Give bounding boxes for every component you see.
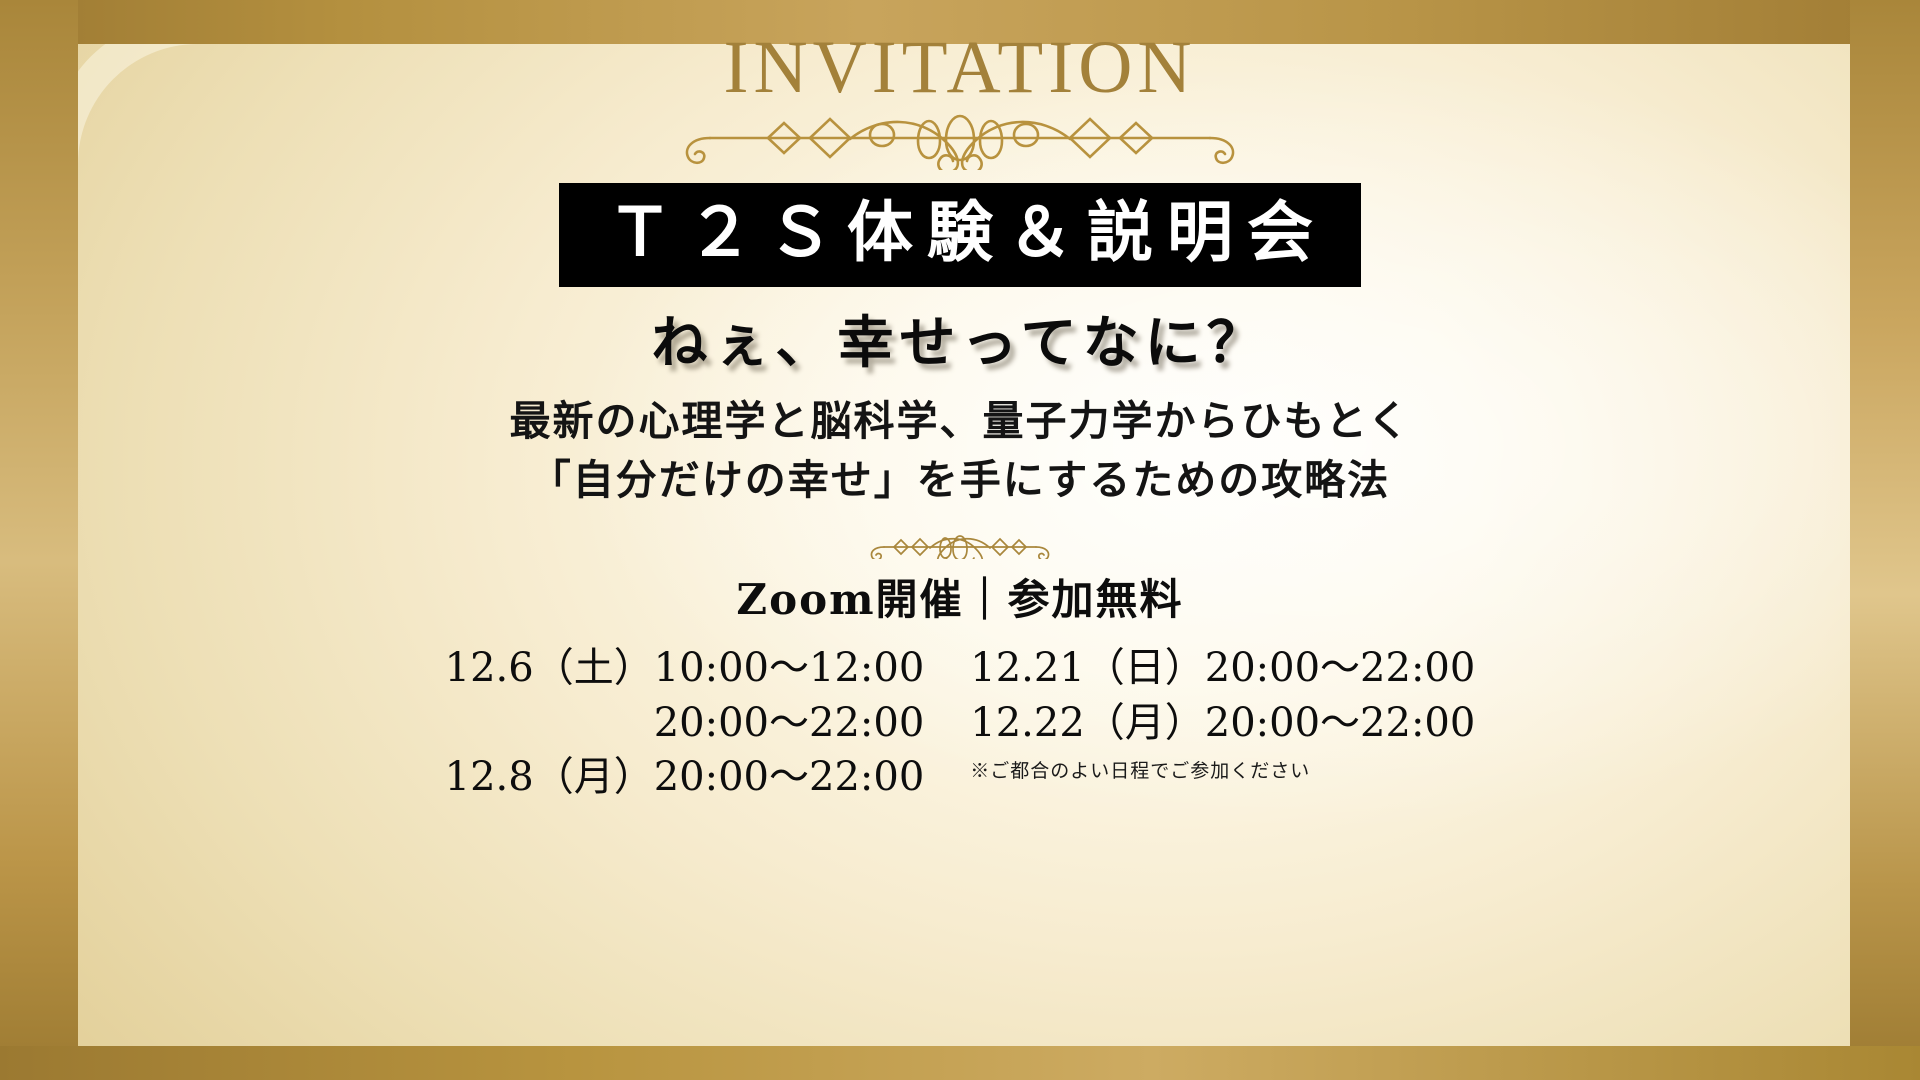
flourish-divider-ornament [650, 110, 1270, 170]
schedule-row: 12.22（月）20:00〜22:00 [970, 696, 1475, 750]
main-title-band: Ｔ２Ｓ体験＆説明会 [559, 183, 1361, 287]
divider-small-wrapper [0, 523, 1920, 561]
schedule-column-right: 12.21（日）20:00〜22:00 12.22（月）20:00〜22:00 … [970, 641, 1475, 804]
kicker-invitation: INVITATION [0, 0, 1920, 105]
schedule-note: ※ご都合のよい日程でご参加ください [970, 756, 1475, 783]
schedule-row: 12.21（日）20:00〜22:00 [970, 641, 1475, 695]
invitation-flyer: INVITATION [0, 0, 1920, 1080]
main-title: Ｔ２Ｓ体験＆説明会 [593, 195, 1327, 271]
schedule-column-left: 12.6（土）10:00〜12:00 20:00〜22:00 12.8（月）20… [445, 641, 925, 804]
schedule-list: 12.6（土）10:00〜12:00 20:00〜22:00 12.8（月）20… [0, 641, 1920, 804]
divider-large-wrapper [0, 109, 1920, 171]
event-format-line: Zoom開催｜参加無料 [0, 575, 1920, 625]
lead-line-2: 「自分だけの幸せ」を手にするための攻略法 [0, 451, 1920, 509]
schedule-row: 12.8（月）20:00〜22:00 [445, 750, 925, 804]
schedule-row: 12.6（土）10:00〜12:00 [445, 641, 925, 695]
schedule-row: 20:00〜22:00 [445, 696, 925, 750]
flyer-content: INVITATION [0, 0, 1920, 1080]
catchphrase: ねぇ、幸せってなに？ [0, 313, 1920, 375]
lead-description: 最新の心理学と脳科学、量子力学からひもとく 「自分だけの幸せ」を手にするための攻… [0, 392, 1920, 508]
flourish-divider-small-ornament [850, 525, 1070, 559]
lead-line-1: 最新の心理学と脳科学、量子力学からひもとく [0, 392, 1920, 450]
